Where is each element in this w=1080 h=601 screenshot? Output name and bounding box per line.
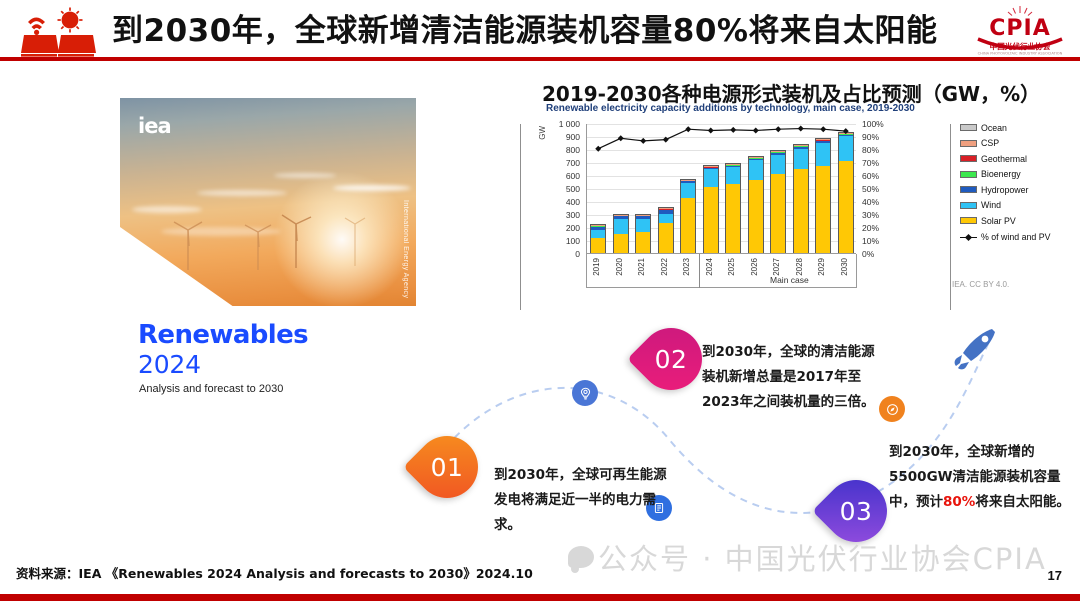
cover-subtitle: Analysis and forecast to 2030 — [139, 383, 283, 395]
svg-text:CPIA: CPIA — [989, 16, 1050, 41]
legend-label: Bioenergy — [981, 169, 1021, 179]
legend-swatch — [960, 155, 977, 162]
legend-swatch — [960, 217, 977, 224]
callout-number-02: 02 — [640, 328, 702, 390]
legend-item-solar-pv: Solar PV — [960, 213, 1076, 229]
percent-wind-pv-line — [587, 124, 857, 254]
legend-item-bioenergy: Bioenergy — [960, 167, 1076, 183]
y-tick-left: 300 — [548, 210, 580, 220]
legend-swatch — [960, 171, 977, 178]
callout-number-03: 03 — [825, 480, 887, 542]
cover-photo: iea International Energy Agency — [120, 98, 416, 306]
y-axis-label: GW — [538, 126, 547, 140]
y-tick-right: 50% — [862, 184, 894, 194]
page-title: 到2030年，全球新增清洁能源装机容量80%将来自太阳能 — [112, 6, 952, 56]
legend-label: Solar PV — [981, 216, 1016, 226]
legend-item-geothermal: Geothermal — [960, 151, 1076, 167]
y-tick-left: 900 — [548, 132, 580, 142]
legend-label: Ocean — [981, 123, 1007, 133]
chart-plot-area: GW 01002003004005006007008009001 000 0%1… — [530, 120, 950, 310]
y-tick-right: 20% — [862, 223, 894, 233]
slide-root: 到2030年，全球新增清洁能源装机容量80%将来自太阳能 CPIA 中国光伏行业… — [0, 0, 1080, 601]
x-axis-box — [586, 254, 857, 288]
chart-legend: OceanCSPGeothermalBioenergyHydropowerWin… — [960, 120, 1076, 260]
callout-text-01: 到2030年，全球可再生能源发电将满足近一半的电力需求。 — [494, 463, 674, 538]
y-tick-right: 30% — [862, 210, 894, 220]
legend-line-marker — [960, 234, 977, 241]
legend-swatch — [960, 124, 977, 131]
y-tick-right: 100% — [862, 119, 894, 129]
page-number: 17 — [1048, 568, 1062, 583]
legend-swatch — [960, 202, 977, 209]
cpia-english-label: CHINA PHOTOVOLTAIC INDUSTRY ASSOCIATION — [978, 52, 1063, 56]
x-axis-title: Main case — [770, 275, 809, 285]
legend-swatch — [960, 140, 977, 147]
y-tick-left: 200 — [548, 223, 580, 233]
legend-item-ocean: Ocean — [960, 120, 1076, 136]
footer-divider — [0, 594, 1080, 601]
cpia-logo: CPIA 中国光伏行业协会 CHINA PHOTOVOLTAIC INDUSTR… — [968, 2, 1072, 56]
y-tick-right: 0% — [862, 249, 894, 259]
callout-03-part2: 将来自太阳能。 — [975, 494, 1070, 510]
legend-swatch — [960, 186, 977, 193]
y-tick-right: 90% — [862, 132, 894, 142]
legend-label: Hydropower — [981, 185, 1028, 195]
chart-panel: 2019-2030各种电源形式装机及占比预测（GW，%） Renewable e… — [520, 68, 1080, 318]
callout-pin-01[interactable]: 01 — [416, 436, 478, 508]
callout-flow: 01 到2030年，全球可再生能源发电将满足近一半的电力需求。 02 到2030… — [400, 318, 1080, 568]
header-divider — [0, 57, 1080, 61]
watermark-bubble-icon — [568, 546, 594, 568]
legend-label: Wind — [981, 200, 1001, 210]
y-tick-left: 800 — [548, 145, 580, 155]
solar-panel-sun-logo — [14, 4, 106, 58]
y-tick-right: 70% — [862, 158, 894, 168]
source-note: 资料来源：IEA 《Renewables 2024 Analysis and f… — [16, 563, 533, 582]
iea-report-cover: iea International Energy Agency Renewabl… — [120, 98, 416, 398]
y-tick-right: 10% — [862, 236, 894, 246]
y-tick-right: 40% — [862, 197, 894, 207]
cover-year: 2024 — [138, 350, 201, 379]
y-tick-left: 600 — [548, 171, 580, 181]
callout-text-03: 到2030年，全球新增的5500GW清洁能源装机容量中，预计80%将来自太阳能。 — [889, 440, 1080, 515]
iea-credit: IEA. CC BY 4.0. — [952, 280, 1009, 289]
watermark-text: 公众号 · 中国光伏行业协会CPIA — [598, 536, 1047, 578]
y-tick-left: 400 — [548, 197, 580, 207]
y-tick-left: 700 — [548, 158, 580, 168]
iea-vertical-caption: International Energy Agency — [401, 200, 410, 298]
legend-item-wind: Wind — [960, 198, 1076, 214]
legend-label: % of wind and PV — [981, 232, 1050, 243]
lightbulb-pin-icon — [572, 380, 598, 406]
y-tick-left: 500 — [548, 184, 580, 194]
legend-item-hydropower: Hydropower — [960, 182, 1076, 198]
cpia-chinese-label: 中国光伏行业协会 — [990, 41, 1051, 51]
cover-title: Renewables — [138, 320, 308, 350]
legend-label: Geothermal — [981, 154, 1027, 164]
legend-item-percent-wind-pv: % of wind and PV — [960, 232, 1076, 260]
legend-item-csp: CSP — [960, 136, 1076, 152]
panel-border-left — [520, 124, 521, 310]
callout-03-highlight: 80% — [943, 494, 975, 510]
y-tick-right: 60% — [862, 171, 894, 181]
legend-label: CSP — [981, 138, 999, 148]
rocket-icon — [946, 324, 1000, 383]
y-tick-left: 0 — [548, 249, 580, 259]
forecast-divider — [699, 254, 700, 288]
panel-border-right — [950, 124, 951, 310]
callout-number-01: 01 — [416, 436, 478, 498]
y-tick-right: 80% — [862, 145, 894, 155]
bars-and-line — [586, 124, 856, 254]
callout-text-02: 到2030年，全球的清洁能源装机新增总量是2017年至2023年之间装机量的三倍… — [702, 340, 888, 415]
y-tick-left: 1 000 — [548, 119, 580, 129]
callout-pin-02[interactable]: 02 — [640, 328, 702, 400]
iea-wordmark: iea — [138, 114, 171, 138]
chart-subtitle: Renewable electricity capacity additions… — [546, 103, 915, 114]
y-tick-left: 100 — [548, 236, 580, 246]
slide-header: 到2030年，全球新增清洁能源装机容量80%将来自太阳能 CPIA 中国光伏行业… — [0, 0, 1080, 62]
